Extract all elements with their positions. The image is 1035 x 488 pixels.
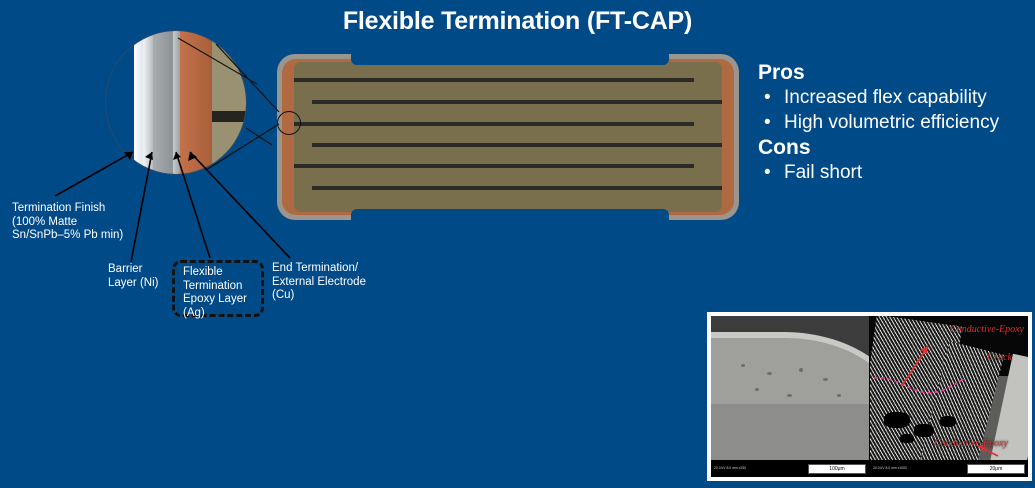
label-end-termination-text: End Termination/ External Electrode (Cu) (272, 262, 366, 301)
cons-item-1-label: Fail short (784, 160, 862, 185)
slide-root: Flexible Termination (FT-CAP) Pros • Inc… (0, 0, 1035, 488)
termination-finish-sn-layer (143, 31, 153, 174)
sem-label-conductive-epoxy-top: Conductive-Epoxy (950, 324, 1024, 335)
sem-right-databar: 20.0 kV 8.0 mm x1000 20μm (870, 460, 1028, 477)
pros-heading: Pros (758, 60, 1033, 85)
termination-finish-highlight-layer (134, 31, 143, 174)
sem-speck (767, 372, 772, 375)
sem-speck (755, 388, 759, 391)
pros-item-1: • Increased flex capability (758, 85, 1033, 110)
sem-left-databar-text: 20.0 kV 8.0 mm x250 (714, 466, 746, 470)
sem-micrograph-panel: 20.0 kV 8.0 mm x250 100μm (707, 312, 1032, 481)
capacitor-ceramic-body (294, 62, 722, 212)
sem-speck (799, 368, 803, 372)
barrier-layer-ni-edge (173, 31, 180, 174)
label-flexible-epoxy: Flexible Termination Epoxy Layer (Ag) (183, 266, 263, 320)
sem-speck (787, 394, 792, 397)
capacitor-bottom-notch (351, 209, 669, 223)
internal-electrode (294, 164, 694, 168)
label-barrier-layer-text: Barrier Layer (Ni) (108, 263, 158, 289)
pros-item-2-label: High volumetric efficiency (784, 110, 999, 135)
magnifier-background (106, 31, 134, 174)
sem-left-databar: 20.0 kV 8.0 mm x250 100μm (711, 460, 869, 477)
internal-electrode (294, 78, 694, 82)
cons-heading: Cons (758, 135, 1033, 160)
label-end-termination: End Termination/ External Electrode (Cu) (272, 262, 382, 303)
sem-right-panel: Conductive-Epoxy Crack Conductive-Epoxy … (869, 316, 1028, 477)
internal-electrode (312, 100, 722, 104)
pros-item-2: • High volumetric efficiency (758, 110, 1033, 135)
internal-electrode (294, 122, 694, 126)
cons-item-1: • Fail short (758, 160, 1033, 185)
capacitor-top-notch (351, 51, 669, 65)
mlcc-capacitor-illustration (277, 54, 739, 220)
internal-electrode (312, 143, 722, 147)
bullet-icon: • (758, 160, 784, 185)
sem-speck (823, 378, 828, 381)
sem-image: 20.0 kV 8.0 mm x250 100μm (711, 316, 1028, 477)
ceramic-body-layer (212, 31, 247, 174)
sem-annotation-overlay (870, 316, 1028, 477)
sem-left-panel: 20.0 kV 8.0 mm x250 100μm (711, 316, 869, 477)
bullet-icon: • (758, 110, 784, 135)
label-termination-finish: Termination Finish (100% Matte Sn/SnPb–5… (12, 202, 137, 243)
internal-electrode (312, 186, 722, 190)
pros-cons-list: Pros • Increased flex capability • High … (758, 60, 1033, 185)
label-barrier-layer: Barrier Layer (Ni) (108, 263, 180, 290)
magnifier-hotspot-circle (277, 111, 301, 135)
bullet-icon: • (758, 85, 784, 110)
sem-speck (837, 394, 841, 397)
sem-left-scale-bar: 100μm (808, 464, 866, 474)
pros-item-1-label: Increased flex capability (784, 85, 987, 110)
sem-right-databar-text: 20.0 kV 8.0 mm x1000 (873, 466, 907, 470)
conductive-epoxy-layer (180, 31, 212, 174)
sem-label-conductive-epoxy-bottom: Conductive-Epoxy (934, 438, 1008, 449)
label-flexible-epoxy-text: Flexible Termination Epoxy Layer (Ag) (183, 266, 247, 319)
label-termination-finish-text: Termination Finish (100% Matte Sn/SnPb–5… (12, 202, 123, 241)
barrier-layer-ni (153, 31, 173, 174)
magnified-internal-electrode (212, 111, 247, 122)
sem-label-crack: Crack (988, 352, 1012, 363)
sem-speck (741, 364, 745, 367)
sem-right-scale-bar: 20μm (967, 464, 1025, 474)
magnified-cross-section (105, 30, 247, 175)
